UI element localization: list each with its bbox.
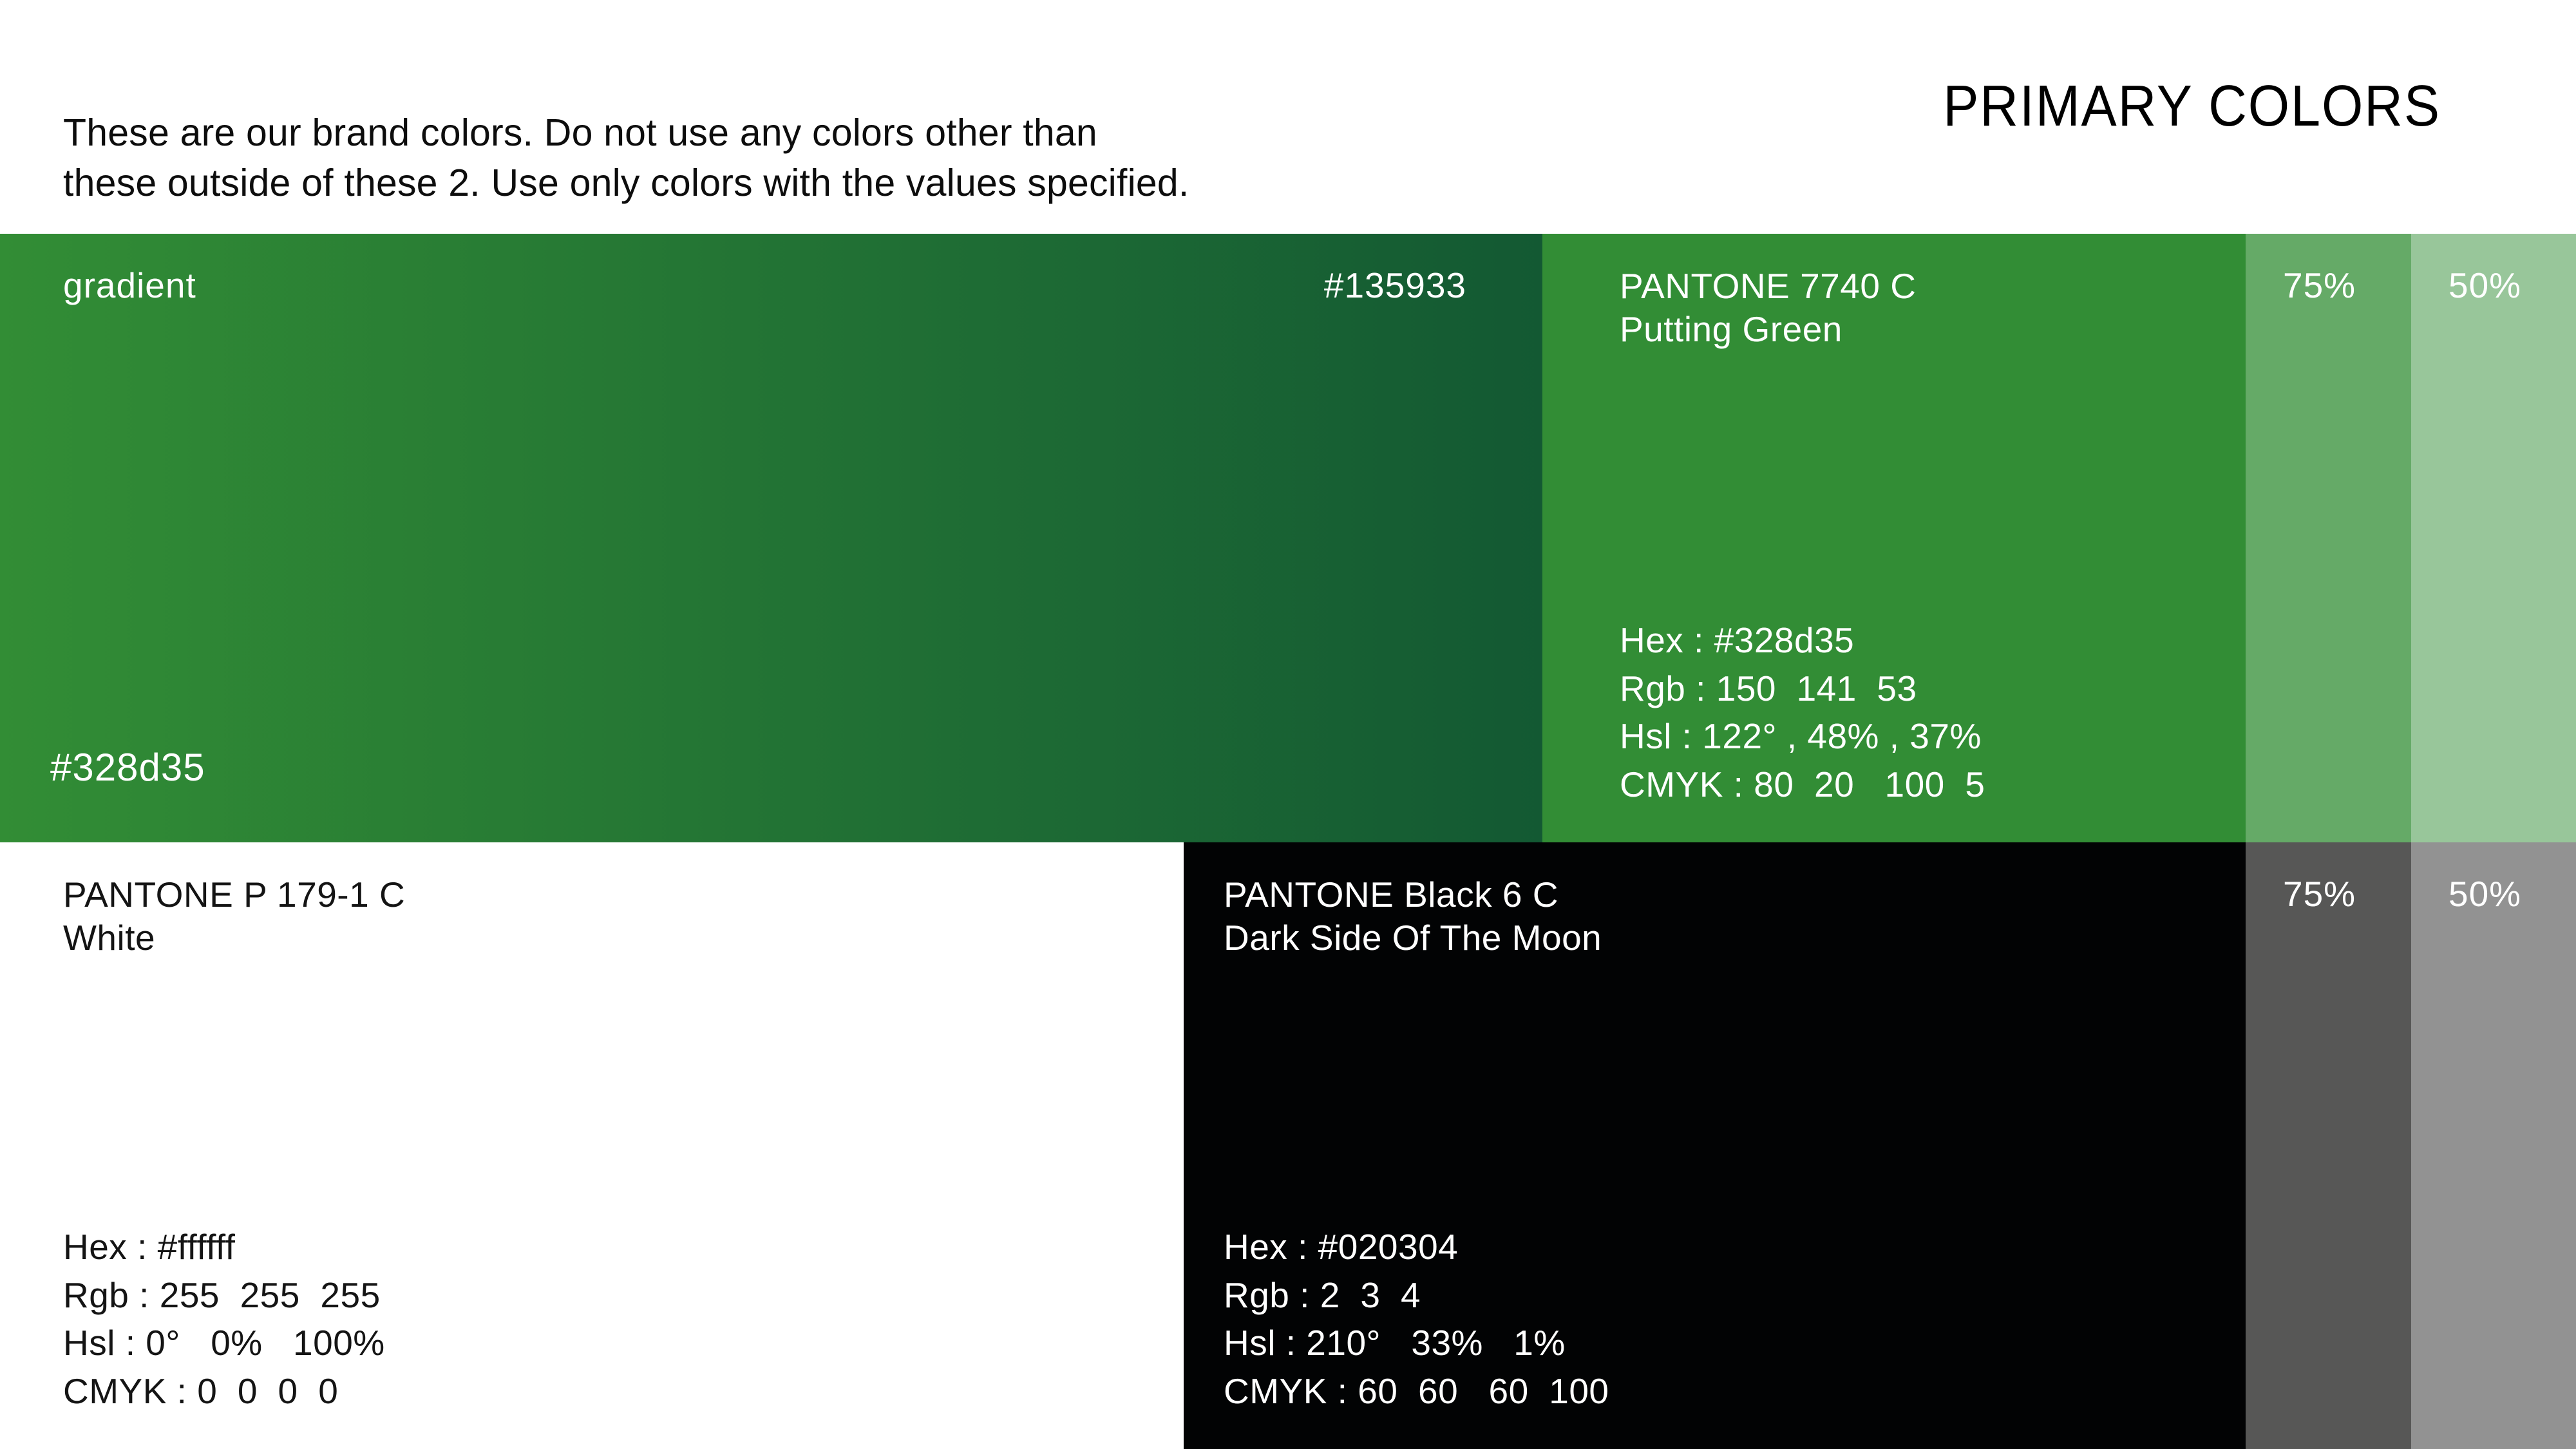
tint-swatch-black-50: 50%	[2411, 842, 2576, 1449]
gradient-hex-dark-label: #135933	[1324, 265, 1466, 306]
page-title: PRIMARY COLORS	[1943, 77, 2441, 135]
tint-swatch-black-75: 75%	[2246, 842, 2411, 1449]
tint-swatch-green-75: 75%	[2246, 234, 2411, 842]
swatch-values-green: Hex : #328d35 Rgb : 150 141 53 Hsl : 122…	[1620, 616, 1985, 809]
tint-label-green-75: 75%	[2283, 265, 2356, 306]
gradient-label: gradient	[63, 265, 196, 306]
tint-label-black-75: 75%	[2283, 873, 2356, 914]
gradient-swatch-panel: gradient #135933 #328d35	[0, 234, 1542, 842]
gradient-hex-light-label: #328d35	[50, 745, 205, 790]
intro-description: These are our brand colors. Do not use a…	[63, 108, 1609, 209]
tint-label-black-50: 50%	[2448, 873, 2521, 914]
swatch-heading-green: PANTONE 7740 C Putting Green	[1620, 265, 1916, 351]
swatch-panel-white: PANTONE P 179-1 C White Hex : #ffffff Rg…	[0, 842, 1184, 1449]
brand-color-guide-page: These are our brand colors. Do not use a…	[0, 0, 2576, 1449]
swatch-values-black: Hex : #020304 Rgb : 2 3 4 Hsl : 210° 33%…	[1224, 1223, 1609, 1416]
swatch-values-white: Hex : #ffffff Rgb : 255 255 255 Hsl : 0°…	[63, 1223, 385, 1416]
swatch-panel-black: PANTONE Black 6 C Dark Side Of The Moon …	[1184, 842, 2246, 1449]
swatch-heading-black: PANTONE Black 6 C Dark Side Of The Moon	[1224, 873, 1602, 960]
tint-swatch-green-50: 50%	[2411, 234, 2576, 842]
swatch-heading-white: PANTONE P 179-1 C White	[63, 873, 405, 960]
header-band: These are our brand colors. Do not use a…	[0, 0, 2576, 234]
tint-label-green-50: 50%	[2448, 265, 2521, 306]
swatch-panel-green: PANTONE 7740 C Putting Green Hex : #328d…	[1542, 234, 2246, 842]
